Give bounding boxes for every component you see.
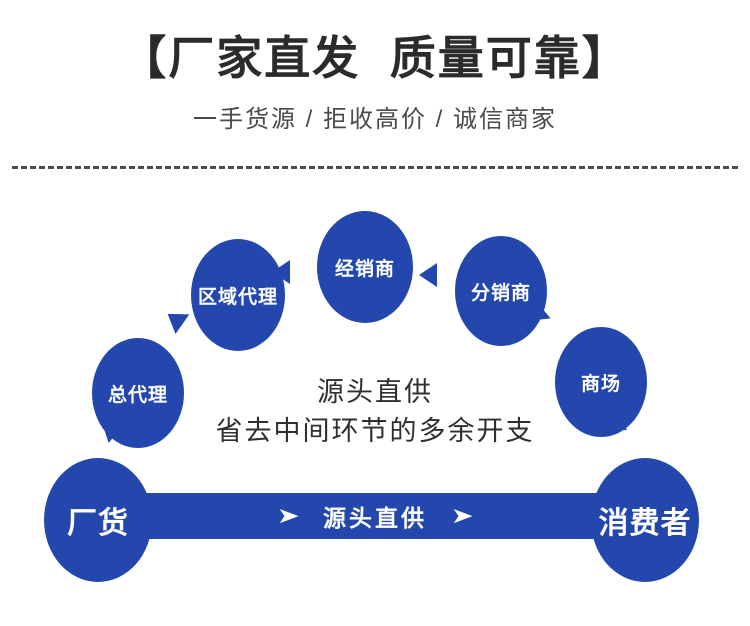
node-sub-distributor: 分销商 bbox=[455, 236, 547, 346]
caption-line-2: 省去中间环节的多余开支 bbox=[175, 412, 575, 451]
direct-supply-bar: ➤ 源头直供 ➤ bbox=[140, 493, 610, 539]
diagram-caption: 源头直供 省去中间环节的多余开支 bbox=[175, 373, 575, 451]
node-general-agent: 总代理 bbox=[92, 338, 184, 448]
caption-line-1: 源头直供 bbox=[175, 373, 575, 412]
node-shopping-mall: 商场 bbox=[555, 327, 647, 437]
header: 【厂家直发 质量可靠】 一手货源 / 拒收高价 / 诚信商家 bbox=[0, 0, 750, 168]
direct-supply-label: 源头直供 bbox=[323, 499, 427, 533]
node-dealer: 经销商 bbox=[317, 211, 413, 323]
triangle-left-icon bbox=[161, 304, 190, 334]
triangle-right-icon: ➤ bbox=[451, 505, 474, 527]
promo-banner: 【厂家直发 质量可靠】 一手货源 / 拒收高价 / 诚信商家 源头直供 省去中间… bbox=[0, 0, 750, 626]
triangle-right-icon: ➤ bbox=[276, 505, 299, 527]
triangle-left-icon bbox=[419, 263, 437, 287]
node-factory-goods: 厂货 bbox=[44, 458, 152, 582]
node-regional-agent: 区域代理 bbox=[191, 239, 285, 351]
node-consumer: 消费者 bbox=[591, 458, 699, 582]
page-subtitle: 一手货源 / 拒收高价 / 诚信商家 bbox=[0, 106, 750, 135]
page-title: 【厂家直发 质量可靠】 bbox=[0, 33, 750, 84]
supply-chain-diagram: 源头直供 省去中间环节的多余开支 ➤ 源头直供 ➤ 经销商 区域代理 分销商 总… bbox=[0, 168, 750, 626]
